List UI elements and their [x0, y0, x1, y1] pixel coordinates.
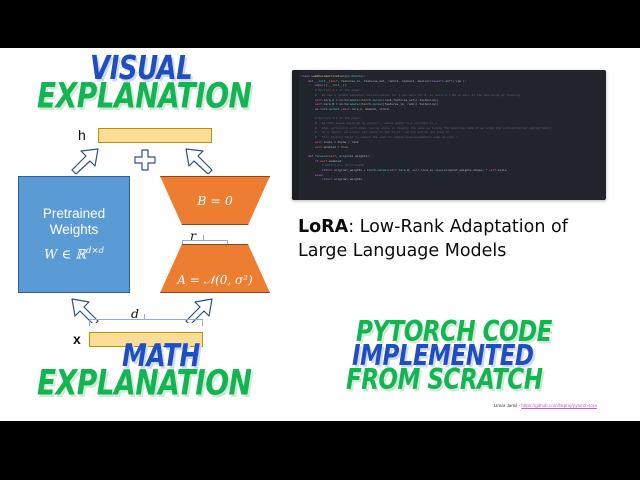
weights-formula-exponent: d×d: [86, 246, 104, 256]
paper-title: LoRA: Low-Rank Adaptation of Large Langu…: [298, 216, 618, 264]
code-gutter: [292, 70, 299, 200]
credit-line: Umar Jamil - https://github.com/hkproj/p…: [494, 403, 597, 408]
pretrained-weights-line1: Pretrained: [43, 206, 105, 221]
weights-formula-base: W ∈ ℝ: [44, 248, 86, 263]
pretrained-weights-formula: W ∈ ℝd×d: [44, 246, 104, 262]
output-vector-bar: [98, 128, 212, 143]
lora-matrix-b-trapezoid: B = 0: [160, 176, 270, 225]
arrow-up-right-weights: [68, 146, 102, 174]
input-dimension-brace: [89, 319, 203, 326]
headline-explanation-top: EXPLANATION: [37, 75, 251, 116]
input-vector-label: x: [73, 331, 81, 347]
credit-repo-link[interactable]: https://github.com/hkproj/pytorch-lora: [521, 403, 597, 408]
paper-title-bold: LoRA: [298, 217, 348, 237]
output-vector-label: h: [78, 127, 86, 143]
pretrained-weights-line2: Weights: [50, 222, 99, 237]
code-text: class LoRAParametrization(nn.Module): de…: [301, 74, 604, 182]
lora-matrix-a-label: A = 𝒩(0, σ²): [177, 273, 252, 288]
plus-icon: [134, 149, 156, 171]
pretrained-weights-title: Pretrained Weights: [43, 206, 105, 237]
headline-explanation-bottom: EXPLANATION: [37, 362, 251, 403]
lora-matrix-b-label: B = 0: [197, 193, 233, 208]
code-screenshot-panel: class LoRAParametrization(nn.Module): de…: [292, 70, 606, 200]
input-dimension-brace-tick: [144, 314, 145, 319]
slide-canvas: VISUAL EXPLANATION h Pretrained Weights …: [0, 48, 640, 421]
letterbox-bottom-bar: [0, 421, 640, 480]
pretrained-weights-box: Pretrained Weights W ∈ ℝd×d: [18, 176, 130, 293]
lora-matrix-a-trapezoid: A = 𝒩(0, σ²): [160, 244, 270, 293]
rank-brace-tick: [203, 235, 204, 240]
credit-author: Umar Jamil -: [494, 403, 521, 408]
letterbox-top-bar: [0, 0, 640, 48]
video-thumbnail-frame: VISUAL EXPLANATION h Pretrained Weights …: [0, 0, 640, 480]
arrow-up-left-lora: [182, 146, 216, 174]
headline-from-scratch: FROM SCRATCH: [346, 364, 542, 397]
